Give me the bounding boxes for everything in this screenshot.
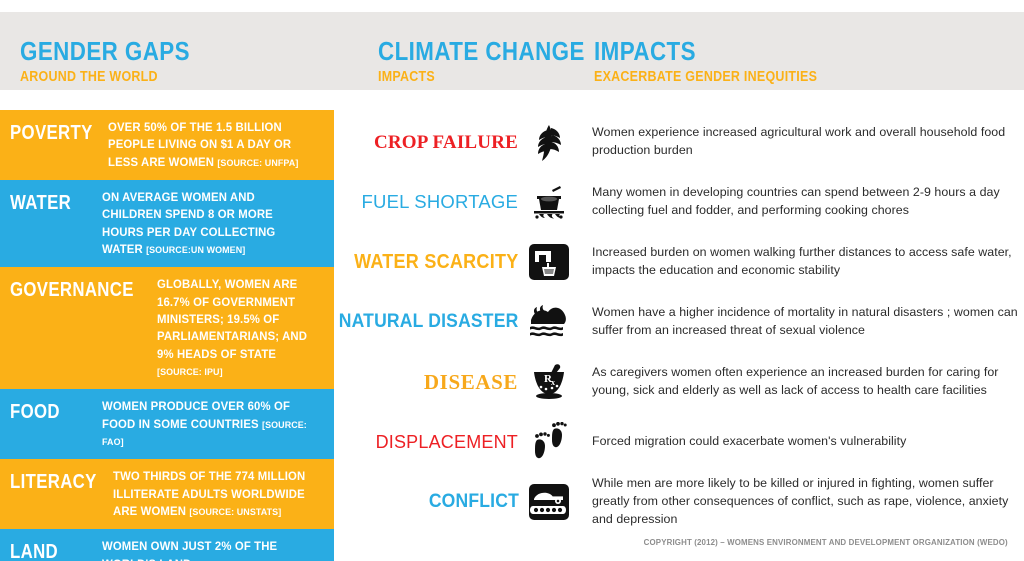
gender-gap-row: POVERTYOVER 50% OF THE 1.5 BILLION PEOPL… [0,110,334,180]
gender-gap-row: GOVERNANCEGLOBALLY, WOMEN ARE 16.7% OF G… [0,267,334,389]
mortar-pestle-rx-icon: Rx [526,359,572,405]
header-title-gender-gaps: GENDER GAPS [20,38,190,65]
gender-gap-label: LITERACY [10,468,97,495]
climate-impact-label: WATER SCARCITY [354,252,526,272]
climate-impact-item: WATER SCARCITY [360,232,572,292]
impact-description-text: Forced migration could exacerbate women'… [592,433,906,451]
gender-gap-statistic: WOMEN OWN JUST 2% OF THE WORLD'S LAND [S… [102,538,310,561]
impact-description-text: Increased burden on women walking furthe… [592,244,1024,280]
header-band: GENDER GAPS AROUND THE WORLD CLIMATE CHA… [0,12,1024,90]
gender-gap-row: LITERACYTWO THIRDS OF THE 774 MILLION IL… [0,459,334,529]
header-column-climate-change: CLIMATE CHANGE IMPACTS [378,38,619,86]
gender-gap-source: [SOURCE:UN WOMEN] [146,245,245,256]
header-title-impacts: IMPACTS [594,38,817,65]
impact-description-text: While men are more likely to be killed o… [592,475,1024,529]
climate-impact-label: DISEASE [424,372,526,393]
gender-gap-label: FOOD [10,398,87,425]
gender-gap-statistic: TWO THIRDS OF THE 774 MILLION ILLITERATE… [113,468,311,520]
impact-description-item: As caregivers women often experience an … [592,352,1024,412]
gender-gap-label: LAND [10,538,87,561]
header-subtitle-climate-change: IMPACTS [378,70,585,85]
climate-impact-item: CROP FAILURE [360,112,572,172]
climate-impact-label: DISPLACEMENT [376,433,526,451]
tank-icon [526,479,572,525]
gender-gap-source: [SOURCE: IPU] [157,367,223,378]
gender-gap-statistic: OVER 50% OF THE 1.5 BILLION PEOPLE LIVIN… [108,119,310,171]
climate-impact-label: CONFLICT [429,492,526,512]
infographic-page: GENDER GAPS AROUND THE WORLD CLIMATE CHA… [0,0,1024,561]
gender-gap-source: [SOURCE: UNSTATS] [190,507,282,518]
climate-impact-label: FUEL SHORTAGE [362,193,526,212]
climate-impact-item: DISEASE Rx [360,352,572,412]
gender-gap-statistic: GLOBALLY, WOMEN ARE 16.7% OF GOVERNMENT … [157,276,314,380]
gender-gap-statistic-text: WOMEN OWN JUST 2% OF THE WORLD'S LAND [102,539,277,561]
gender-gap-label: GOVERNANCE [10,276,134,303]
header-subtitle-gender-gaps: AROUND THE WORLD [20,70,190,85]
impact-description-text: Many women in developing countries can s… [592,184,1024,220]
impact-description-item: Many women in developing countries can s… [592,172,1024,232]
impact-description-item: Women experience increased agricultural … [592,112,1024,172]
impact-description-text: As caregivers women often experience an … [592,364,1024,400]
gender-gap-statistic: WOMEN PRODUCE OVER 60% OF FOOD IN SOME C… [102,398,310,450]
faucet-glass-icon [526,239,572,285]
copyright-notice: COPYRIGHT (2012) – WOMENS ENVIRONMENT AN… [644,537,1008,547]
header-column-impacts: IMPACTS EXACERBATE GENDER INEQUITIES [594,38,854,86]
impact-description-item: Forced migration could exacerbate women'… [592,412,1024,472]
climate-impact-item: FUEL SHORTAGE [360,172,572,232]
climate-impact-item: CONFLICT [360,472,572,532]
cooking-pot-fire-icon [526,179,572,225]
climate-impacts-list: CROP FAILURE FUEL SHORTAGE WATER SCARCIT… [360,112,572,532]
footprints-icon [526,419,572,465]
header-title-climate-change: CLIMATE CHANGE [378,38,585,65]
impact-description-item: Increased burden on women walking furthe… [592,232,1024,292]
impact-description-item: While men are more likely to be killed o… [592,472,1024,532]
climate-impact-item: DISPLACEMENT [360,412,572,472]
header-column-gender-gaps: GENDER GAPS AROUND THE WORLD [20,38,218,86]
gender-gap-row: WATERON AVERAGE WOMEN AND CHILDREN SPEND… [0,180,334,267]
flood-wave-icon [526,299,572,345]
gender-gap-row: FOODWOMEN PRODUCE OVER 60% OF FOOD IN SO… [0,389,334,459]
impact-description-item: Women have a higher incidence of mortali… [592,292,1024,352]
climate-impact-label: CROP FAILURE [374,133,526,152]
impact-description-text: Women experience increased agricultural … [592,124,1024,160]
gender-gap-statistic-text: GLOBALLY, WOMEN ARE 16.7% OF GOVERNMENT … [157,277,307,360]
gender-gap-statistic: ON AVERAGE WOMEN AND CHILDREN SPEND 8 OR… [102,189,310,258]
gender-gap-source: [SOURCE: UNFPA] [218,158,299,169]
gender-gap-label: POVERTY [10,119,93,146]
impact-description-text: Women have a higher incidence of mortali… [592,304,1024,340]
impact-descriptions-list: Women experience increased agricultural … [592,112,1024,532]
gender-gap-label: WATER [10,189,87,216]
svg-text:x: x [551,378,555,387]
wheat-stalk-icon [526,119,572,165]
gender-gap-row: LANDWOMEN OWN JUST 2% OF THE WORLD'S LAN… [0,529,334,561]
header-subtitle-impacts: EXACERBATE GENDER INEQUITIES [594,70,817,85]
climate-impact-label: NATURAL DISASTER [339,312,526,332]
climate-impact-item: NATURAL DISASTER [360,292,572,352]
gender-gaps-list: POVERTYOVER 50% OF THE 1.5 BILLION PEOPL… [0,110,334,561]
